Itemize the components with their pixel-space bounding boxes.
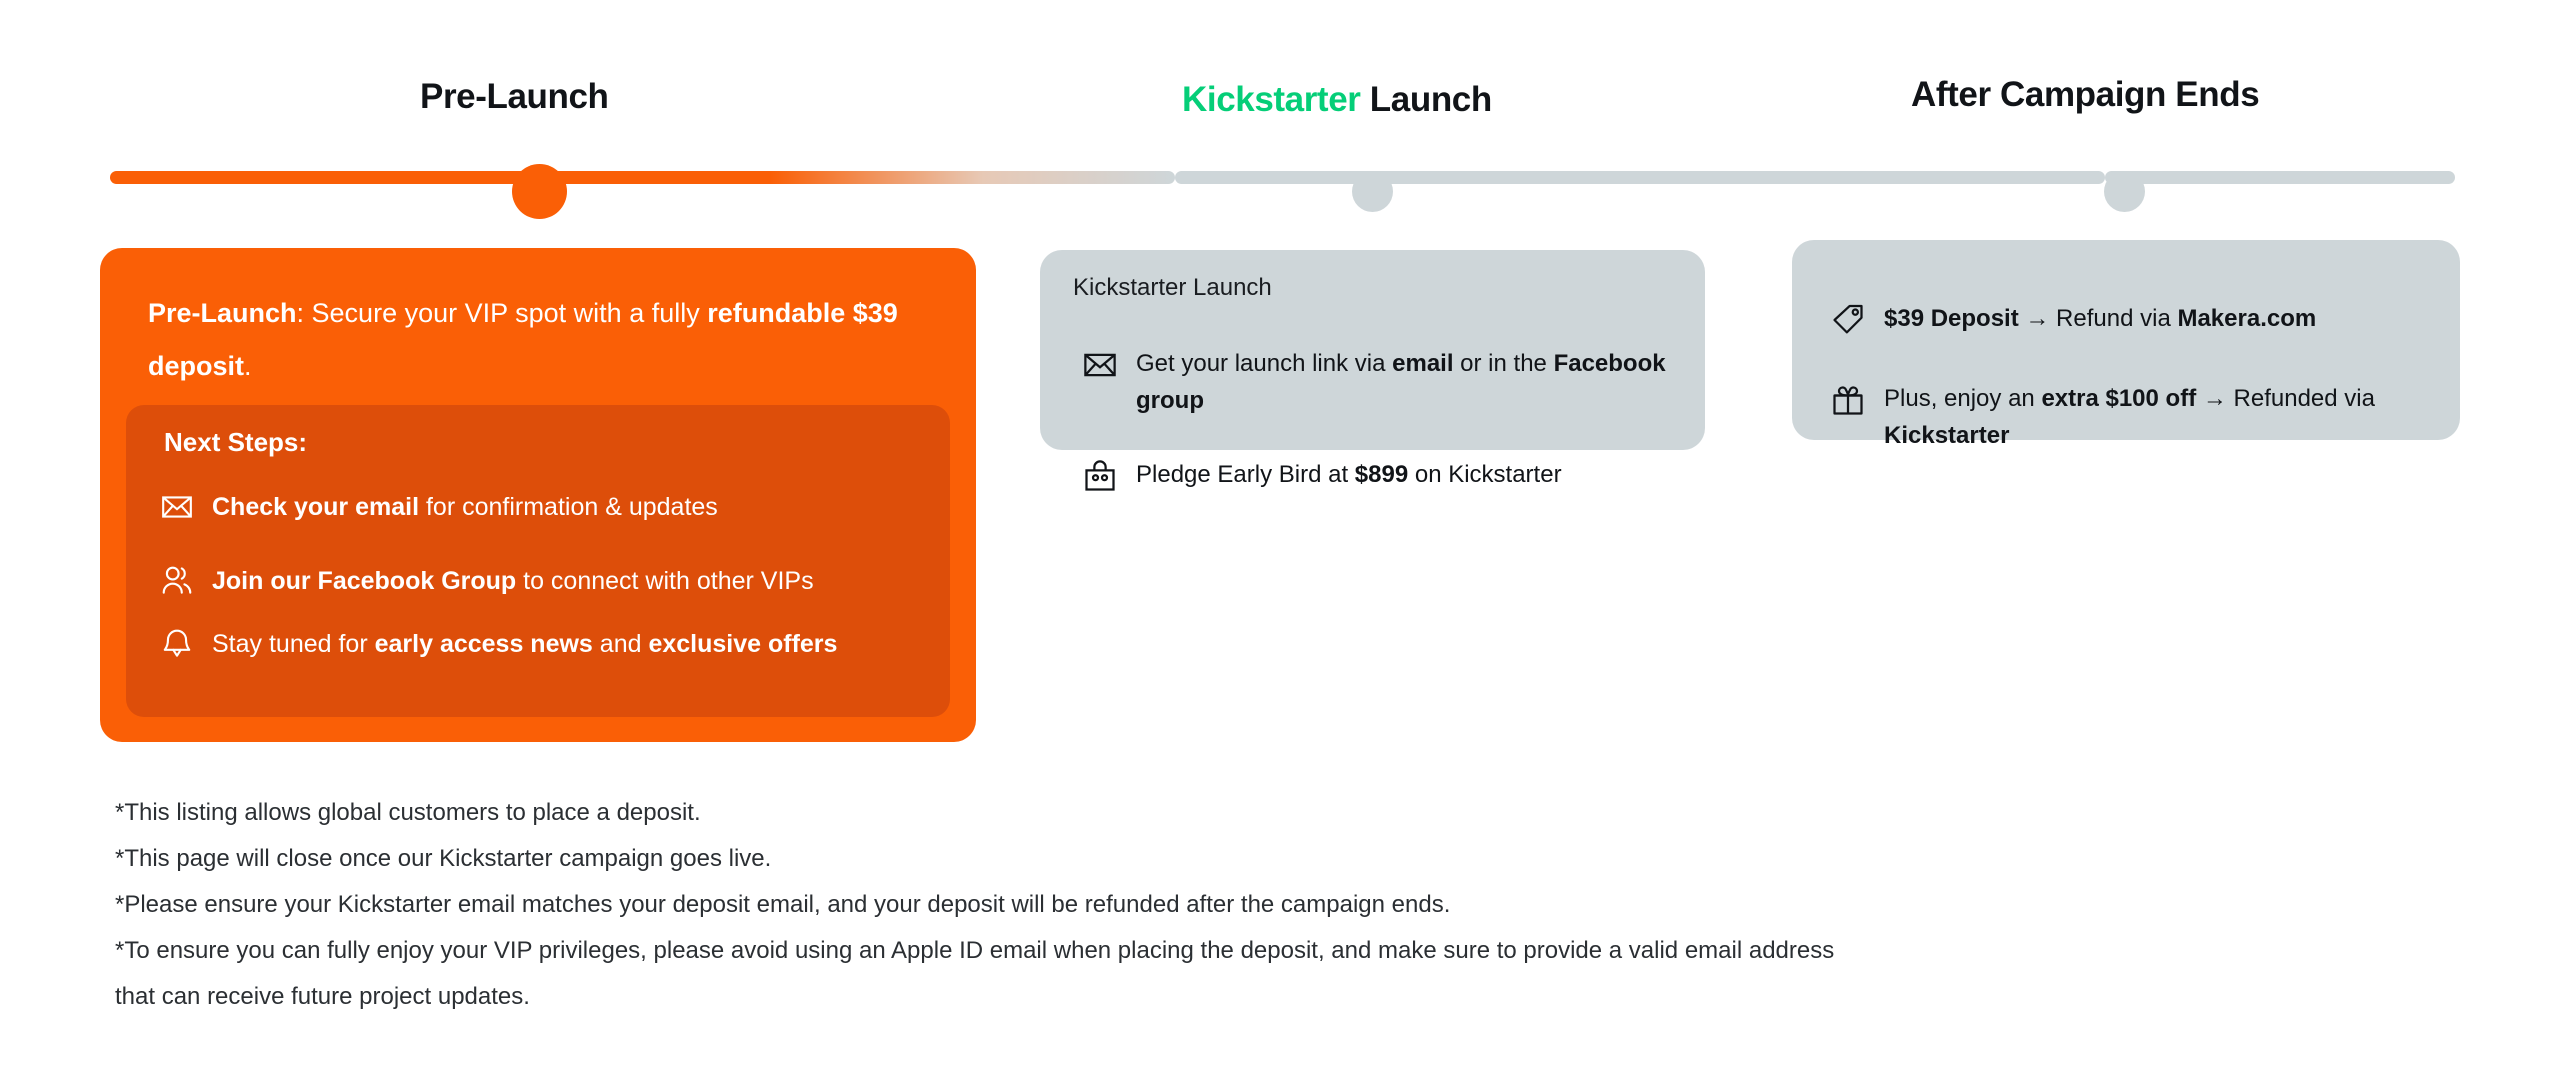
kickstarter-card-item-text: Pledge Early Bird at $899 on Kickstarter xyxy=(1136,456,1562,493)
step-title-kickstarter-launch: Kickstarter Launch xyxy=(1182,80,1492,120)
af-item-1-bold: extra $100 off xyxy=(2041,385,2196,412)
rail-dot-pre-launch[interactable] xyxy=(512,164,567,219)
after-campaign-item-text: $39 Deposit → Refund via Makera.com xyxy=(1884,300,2316,337)
shopping-bag-icon xyxy=(1082,458,1118,494)
pre-launch-lead-rest-1: : Secure your VIP spot with a fully xyxy=(297,298,708,328)
step-title-pre-launch-text: Pre-Launch xyxy=(420,77,609,116)
bell-icon xyxy=(160,627,194,661)
ks-item-0-mid: or in the xyxy=(1454,350,1554,377)
af-item-0-bold: $39 Deposit xyxy=(1884,305,2019,332)
next-step-item-text: Stay tuned for early access news and exc… xyxy=(212,625,837,663)
footnote: *This listing allows global customers to… xyxy=(115,790,2015,836)
after-campaign-item-text: Plus, enjoy an extra $100 off → Refunded… xyxy=(1884,380,2444,454)
af-item-1-bold-2: Kickstarter xyxy=(1884,422,2009,449)
next-step-2-pre: Stay tuned for xyxy=(212,630,375,658)
next-step-2-bold-2: exclusive offers xyxy=(648,630,837,658)
next-step-2-bold: early access news xyxy=(375,630,593,658)
prelaunch-timeline-page: Pre-Launch Kickstarter Launch After Camp… xyxy=(0,0,2560,1074)
kickstarter-card-lead: Kickstarter Launch xyxy=(1073,274,1272,302)
price-tag-icon xyxy=(1830,302,1866,338)
rail-segment-upcoming-2 xyxy=(2105,171,2455,184)
ks-item-1-bold: $899 xyxy=(1355,461,1408,488)
rail-dot-kickstarter-launch[interactable] xyxy=(1352,171,1393,212)
step-title-after-campaign-ends: After Campaign Ends xyxy=(1911,75,2259,115)
after-campaign-item: $39 Deposit → Refund via Makera.com xyxy=(1830,300,2316,338)
after-campaign-item: Plus, enjoy an extra $100 off → Refunded… xyxy=(1830,380,2444,454)
next-step-item: Stay tuned for early access news and exc… xyxy=(160,625,930,663)
next-steps-heading: Next Steps: xyxy=(164,427,307,458)
af-item-0-bold-2: Makera.com xyxy=(2177,305,2316,332)
ks-item-1-mid: on Kickstarter xyxy=(1408,461,1561,488)
envelope-icon xyxy=(160,490,194,524)
footnotes: *This listing allows global customers to… xyxy=(115,790,2015,1020)
next-step-0-bold: Check your email xyxy=(212,493,419,521)
pre-launch-card: Pre-Launch: Secure your VIP spot with a … xyxy=(100,248,976,742)
next-step-1-bold: Join our Facebook Group xyxy=(212,567,516,595)
ks-item-1-pre: Pledge Early Bird at xyxy=(1136,461,1355,488)
af-item-0-mid: → Refund via xyxy=(2019,305,2178,332)
people-group-icon xyxy=(160,564,194,598)
next-steps-box: Next Steps: Check your email for confirm… xyxy=(126,405,950,717)
footnote: *Please ensure your Kickstarter email ma… xyxy=(115,882,2015,928)
rail-segment-upcoming-1 xyxy=(1175,171,2105,184)
next-step-item-text: Check your email for confirmation & upda… xyxy=(212,488,718,526)
next-step-2-mid: and xyxy=(593,630,649,658)
pre-launch-lead-rest-2: . xyxy=(244,351,252,381)
next-step-0-rest: for confirmation & updates xyxy=(419,493,718,521)
step-title-kickstarter-accent: Kickstarter xyxy=(1182,80,1360,119)
kickstarter-card-item: Get your launch link via email or in the… xyxy=(1082,345,1696,419)
next-step-item: Check your email for confirmation & upda… xyxy=(160,488,930,526)
next-step-1-rest: to connect with other VIPs xyxy=(516,567,813,595)
rail-dot-after-campaign[interactable] xyxy=(2104,171,2145,212)
next-step-item: Join our Facebook Group to connect with … xyxy=(160,562,930,600)
pre-launch-lead-text: Pre-Launch: Secure your VIP spot with a … xyxy=(148,287,938,393)
step-title-pre-launch: Pre-Launch xyxy=(420,77,609,117)
pre-launch-lead-bold: Pre-Launch xyxy=(148,298,297,328)
kickstarter-card-item: Pledge Early Bird at $899 on Kickstarter xyxy=(1082,456,1562,494)
step-title-kickstarter-rest: Launch xyxy=(1360,80,1491,119)
envelope-icon xyxy=(1082,347,1118,383)
ks-item-0-bold: email xyxy=(1392,350,1453,377)
progress-rail xyxy=(0,158,2560,198)
step-title-after-campaign-text: After Campaign Ends xyxy=(1911,75,2259,114)
footnote: *To ensure you can fully enjoy your VIP … xyxy=(115,928,1875,1020)
footnote: *This page will close once our Kickstart… xyxy=(115,836,2015,882)
next-step-item-text: Join our Facebook Group to connect with … xyxy=(212,562,814,600)
gift-icon xyxy=(1830,382,1866,418)
af-item-1-pre: Plus, enjoy an xyxy=(1884,385,2041,412)
ks-item-0-pre: Get your launch link via xyxy=(1136,350,1392,377)
kickstarter-card-item-text: Get your launch link via email or in the… xyxy=(1136,345,1696,419)
rail-segment-completed xyxy=(110,171,1175,184)
af-item-1-mid: → Refunded via xyxy=(2196,385,2375,412)
